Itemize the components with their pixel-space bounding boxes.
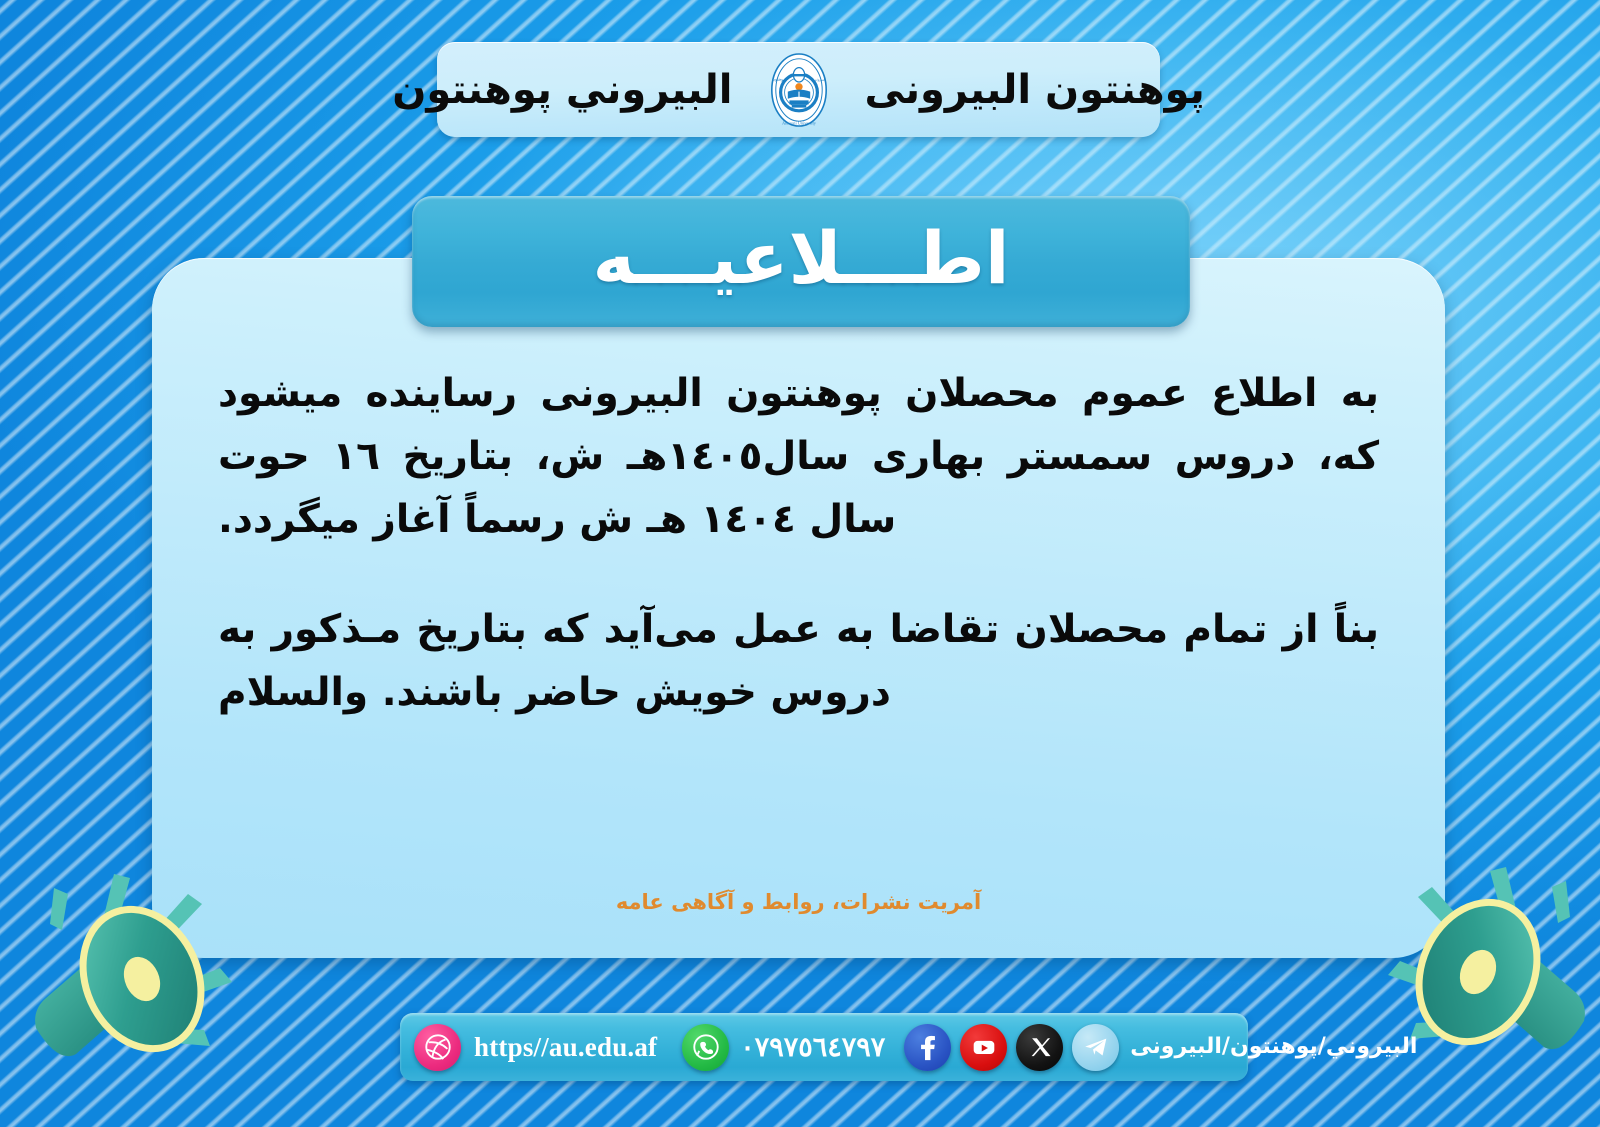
announcement-poster: پوهنتون البیرونی Albironi University پوه… (0, 0, 1600, 1127)
whatsapp-icon[interactable] (682, 1024, 729, 1071)
megaphone-icon-left (18, 852, 268, 1067)
website-url-label[interactable]: https//au.edu.af (474, 1034, 657, 1061)
phone-number-label[interactable]: ۰۷۹۷٥٦٤۷۹۷ (740, 1034, 885, 1061)
header-bar: پوهنتون البیرونی Albironi University پوه… (437, 42, 1160, 137)
youtube-icon[interactable] (960, 1024, 1007, 1071)
university-name-right: پوهنتون البیرونی (865, 70, 1205, 110)
facebook-icon[interactable] (904, 1024, 951, 1071)
title-plaque: اطـــلاعیـــه (412, 196, 1190, 327)
footer-social-bar: https//au.edu.af ۰۷۹۷٥٦٤۷۹۷ (400, 1013, 1248, 1081)
telegram-icon[interactable] (1072, 1024, 1119, 1071)
x-twitter-icon[interactable] (1016, 1024, 1063, 1071)
issuing-office-signature: آمریت نشرات، روابط و آگاهی عامه (152, 890, 1445, 914)
svg-text:Albironi University: Albironi University (782, 120, 817, 125)
albironi-university-seal-icon: Albironi University پوهنتون البیرونی (759, 50, 839, 130)
svg-text:پوهنتون: پوهنتون (772, 77, 784, 81)
university-name-left: البيروني پوهنتون (392, 70, 732, 110)
announcement-paragraph-1: به اطلاع عموم محصلان پوهنتون البیرونی رس… (218, 362, 1379, 552)
announcement-paragraph-2: بناً از تمام محصلان تقاضا به عمل می‌آید … (218, 598, 1379, 724)
social-handle-label[interactable]: البیروني/پوهنتون/البیرونی (1130, 1036, 1417, 1058)
web-globe-icon[interactable] (414, 1024, 461, 1071)
svg-text:البیرونی: البیرونی (813, 77, 825, 81)
page-title: اطـــلاعیـــه (592, 222, 1009, 302)
megaphone-icon-right (1352, 845, 1600, 1060)
content-card: به اطلاع عموم محصلان پوهنتون البیرونی رس… (152, 258, 1445, 958)
